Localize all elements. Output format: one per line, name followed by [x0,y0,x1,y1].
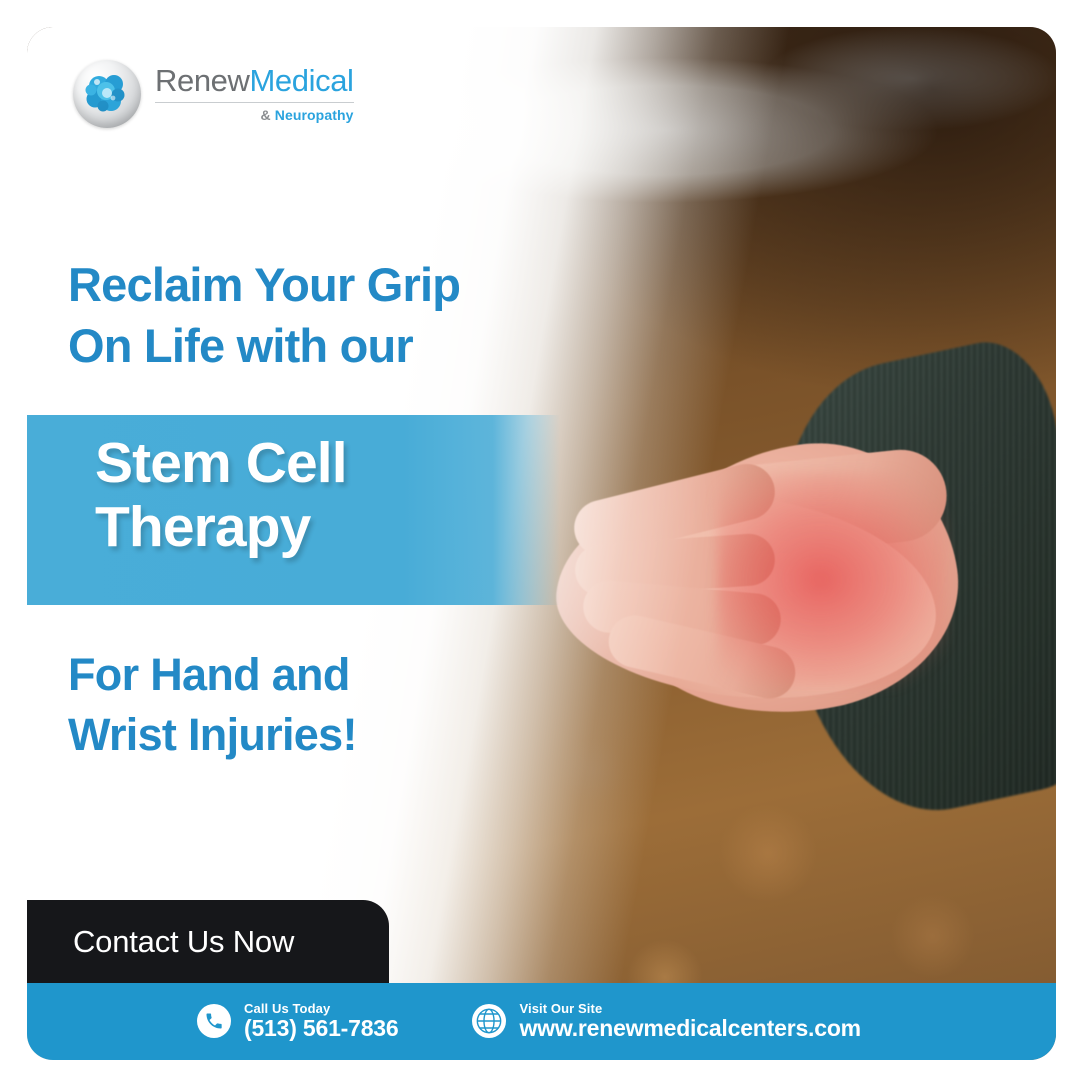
subheadline-line-2: Wrist Injuries! [68,705,357,765]
subheadline-line-1: For Hand and [68,645,357,705]
cell-cluster-orb-icon [73,60,141,128]
footer-website-label: Visit Our Site [519,1002,860,1016]
band-line-1: Stem Cell [95,432,347,496]
brand-tagline-amp: & [261,107,271,123]
footer-website-text: Visit Our Site www.renewmedicalcenters.c… [519,1002,860,1041]
contact-us-button[interactable]: Contact Us Now [27,900,389,983]
contact-footer: Call Us Today (513) 561-7836 [27,983,1056,1060]
brand-wordmark: RenewMedical [155,65,354,96]
band-line-2: Therapy [95,496,347,560]
brand-tagline: & Neuropathy [155,107,354,123]
headline-line-2: On Life with our [68,316,460,377]
brand-text: RenewMedical & Neuropathy [155,65,354,123]
footer-phone-text: Call Us Today (513) 561-7836 [244,1002,398,1041]
brand-divider [155,102,354,103]
brand-tagline-word: Neuropathy [275,107,354,123]
subheadline: For Hand and Wrist Injuries! [68,645,357,765]
headline-line2-normal: with our [237,319,413,372]
globe-icon [472,1004,506,1038]
subheadline-wrist-injuries: Wrist Injuries! [68,709,357,760]
headline-line-1: Reclaim Your Grip [68,255,460,316]
headline-line2-bold: On Life [68,319,224,372]
brand-wordmark-primary: Renew [155,63,250,98]
subheadline-hand: Hand [150,649,260,700]
footer-phone-label: Call Us Today [244,1002,398,1016]
headline-line1-bold: Reclaim Your Grip [68,258,460,311]
brand-logo: RenewMedical & Neuropathy [73,60,354,128]
footer-phone-item[interactable]: Call Us Today (513) 561-7836 [197,1002,398,1041]
contact-us-button-label: Contact Us Now [27,924,294,960]
headline: Reclaim Your Grip On Life with our [68,255,460,376]
subheadline-for: For [68,649,138,700]
footer-website-item[interactable]: Visit Our Site www.renewmedicalcenters.c… [472,1002,860,1041]
footer-website-url: www.renewmedicalcenters.com [519,1016,860,1041]
band-headline: Stem Cell Therapy [95,432,347,560]
subheadline-and: and [272,649,350,700]
footer-phone-number: (513) 561-7836 [244,1016,398,1041]
brand-wordmark-secondary: Medical [250,63,354,98]
phone-icon [197,1004,231,1038]
promo-card: RenewMedical & Neuropathy Reclaim Your G… [27,27,1056,1060]
